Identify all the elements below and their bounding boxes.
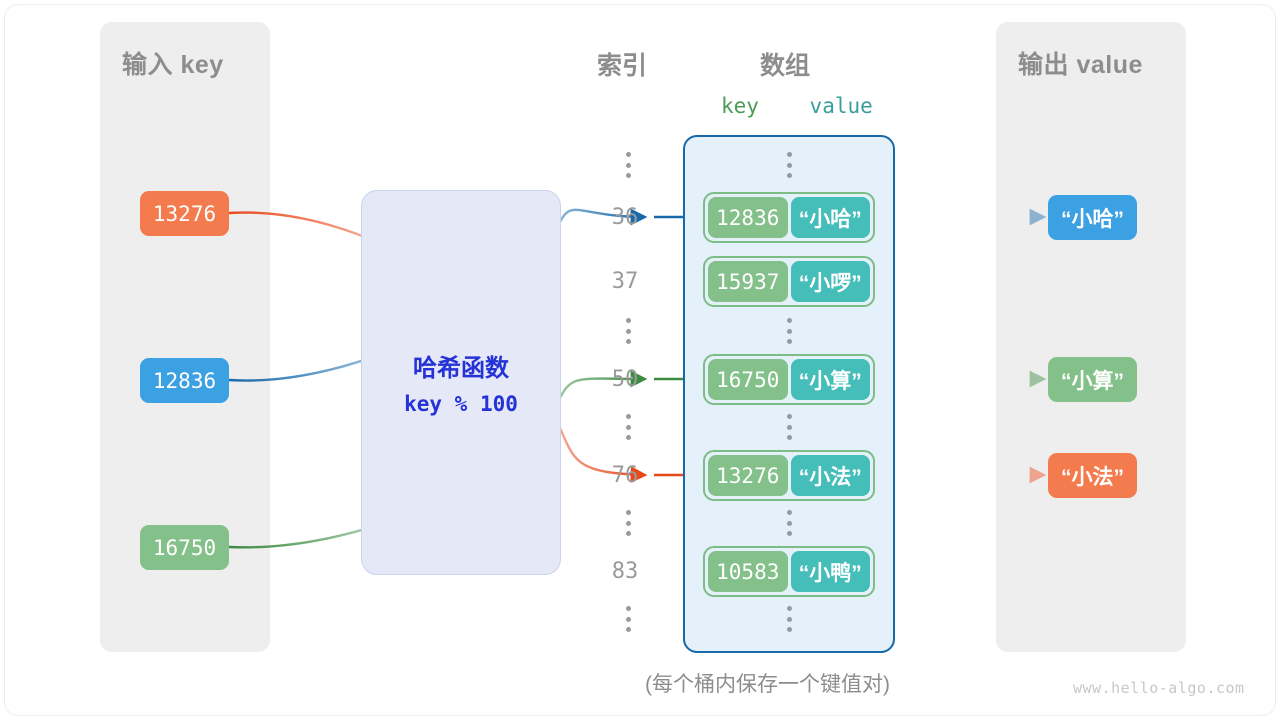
output-panel [996, 22, 1186, 652]
array-column-header: 数组 [760, 46, 810, 82]
bucket-37[interactable]: 15937 “小啰” [703, 256, 875, 307]
bucket-37-key: 15937 [708, 261, 788, 302]
bucket-76-value: “小法” [791, 455, 871, 496]
array-dots-2 [782, 318, 796, 344]
index-dots-top [621, 152, 635, 178]
output-value-xiaoha[interactable]: “小哈” [1048, 195, 1137, 240]
bucket-76-key: 13276 [708, 455, 788, 496]
array-dots-3 [782, 414, 796, 440]
hash-map-diagram: 输入 key 输出 value 索引 数组 key value [0, 0, 1280, 720]
output-panel-title: 输出 value [1018, 45, 1143, 81]
array-dots-top [782, 152, 796, 178]
bucket-36-value: “小哈” [791, 197, 871, 238]
array-dots-4 [782, 510, 796, 536]
input-key-16750-label: 16750 [153, 536, 216, 560]
index-dots-3 [621, 414, 635, 440]
bucket-76[interactable]: 13276 “小法” [703, 450, 875, 501]
hash-function-title: 哈希函数 [362, 348, 560, 383]
bucket-83-key: 10583 [708, 551, 788, 592]
diagram-caption: (每个桶内保存一个键值对) [645, 668, 890, 698]
hash-function-box: 哈希函数 key % 100 [361, 190, 561, 575]
hash-function-formula: key % 100 [362, 392, 560, 416]
output-value-xiaoha-label: “小哈” [1061, 203, 1124, 233]
key-header-label: key [721, 94, 759, 118]
output-value-xiaosuan-label: “小算” [1061, 365, 1124, 395]
index-76: 76 [595, 463, 655, 488]
output-value-xiaosuan[interactable]: “小算” [1048, 357, 1137, 402]
bucket-83-value: “小鸭” [791, 551, 871, 592]
input-key-13276-label: 13276 [153, 202, 216, 226]
index-dots-4 [621, 510, 635, 536]
bucket-83[interactable]: 10583 “小鸭” [703, 546, 875, 597]
array-dots-bottom [782, 606, 796, 632]
bucket-36[interactable]: 12836 “小哈” [703, 192, 875, 243]
bucket-50-value: “小算” [791, 359, 871, 400]
value-header-label: value [810, 94, 873, 118]
output-value-xiaofa[interactable]: “小法” [1048, 453, 1137, 498]
input-panel-title-text: 输入 key [122, 51, 224, 79]
index-37: 37 [595, 269, 655, 294]
input-key-16750[interactable]: 16750 [140, 525, 229, 570]
index-column-header: 索引 [597, 46, 647, 82]
output-value-xiaofa-label: “小法” [1061, 461, 1124, 491]
bucket-50-key: 16750 [708, 359, 788, 400]
bucket-36-key: 12836 [708, 197, 788, 238]
index-dots-2 [621, 318, 635, 344]
bucket-37-value: “小啰” [791, 261, 871, 302]
source-url: www.hello-algo.com [1073, 679, 1245, 697]
input-key-13276[interactable]: 13276 [140, 191, 229, 236]
bucket-50[interactable]: 16750 “小算” [703, 354, 875, 405]
input-key-12836-label: 12836 [153, 369, 216, 393]
index-36: 36 [595, 205, 655, 230]
index-dots-bottom [621, 606, 635, 632]
input-key-12836[interactable]: 12836 [140, 358, 229, 403]
index-83: 83 [595, 559, 655, 584]
input-panel-title: 输入 key [122, 45, 224, 81]
key-value-header: key value [721, 94, 873, 118]
index-50: 50 [595, 367, 655, 392]
output-panel-title-text: 输出 value [1018, 51, 1143, 79]
